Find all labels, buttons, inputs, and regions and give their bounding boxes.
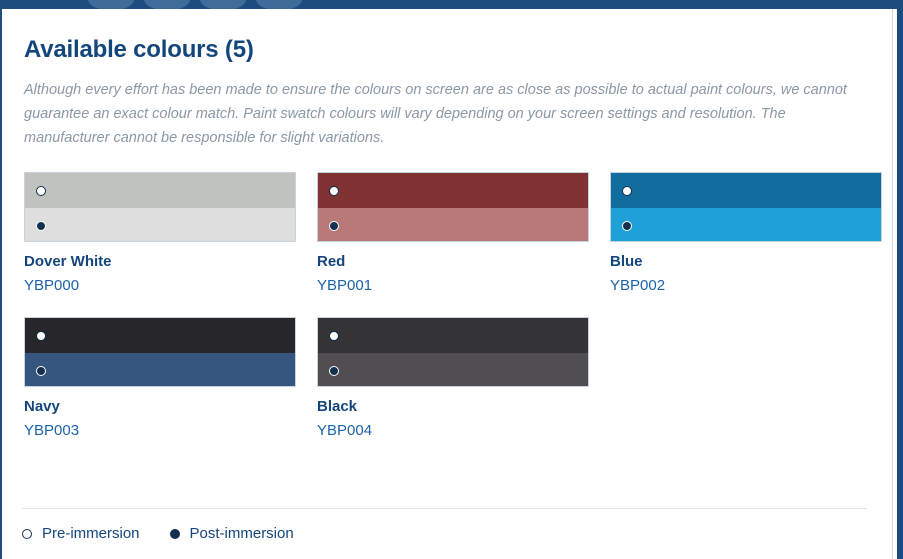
site-header-band xyxy=(0,0,903,9)
pre-immersion-marker-icon xyxy=(36,331,46,341)
legend-item-post-immersion: Post-immersion xyxy=(170,524,294,544)
available-colours-card: Available colours (5) Although every eff… xyxy=(2,9,892,559)
colour-swatch-item[interactable]: Red YBP001 xyxy=(317,172,589,295)
pre-immersion-marker-icon xyxy=(36,186,46,196)
swatch-pre-immersion xyxy=(25,318,295,353)
pre-immersion-marker-icon xyxy=(329,331,339,341)
colour-swatch-item[interactable]: Blue YBP002 xyxy=(610,172,882,295)
swatch-name: Dover White xyxy=(24,253,296,271)
swatch-colour-block[interactable] xyxy=(24,172,296,242)
swatch-pre-immersion xyxy=(25,173,295,208)
swatch-name: Black xyxy=(317,398,589,416)
swatch-code: YBP000 xyxy=(24,277,296,295)
legend-item-pre-immersion: Pre-immersion xyxy=(22,524,140,544)
swatch-pre-immersion xyxy=(318,173,588,208)
swatch-name: Red xyxy=(317,253,589,271)
swatch-post-immersion xyxy=(318,353,588,387)
colour-swatch-item[interactable]: Black YBP004 xyxy=(317,317,589,440)
colour-swatch-item[interactable]: Dover White YBP000 xyxy=(24,172,296,295)
swatch-pre-immersion xyxy=(318,318,588,353)
swatch-pre-immersion xyxy=(611,173,881,208)
pre-immersion-marker-icon xyxy=(329,186,339,196)
swatch-code: YBP001 xyxy=(317,277,589,295)
swatch-post-immersion xyxy=(25,208,295,242)
post-immersion-marker-icon xyxy=(329,221,339,231)
swatch-post-immersion xyxy=(611,208,881,242)
swatch-post-immersion xyxy=(25,353,295,387)
brand-logo-icon xyxy=(86,0,324,9)
colour-selector-page: Available colours (5) Although every eff… xyxy=(0,0,903,559)
page-title: Available colours (5) xyxy=(24,35,870,65)
swatch-code: YBP004 xyxy=(317,422,589,440)
swatch-name: Navy xyxy=(24,398,296,416)
swatch-post-immersion xyxy=(318,208,588,242)
post-immersion-marker-icon xyxy=(36,221,46,231)
post-immersion-marker-icon xyxy=(622,221,632,231)
post-immersion-marker-icon xyxy=(36,366,46,376)
swatch-colour-block[interactable] xyxy=(317,172,589,242)
legend-label: Pre-immersion xyxy=(42,524,140,544)
colour-swatch-grid: Dover White YBP000 Red YBP001 xyxy=(24,172,870,440)
filled-circle-icon xyxy=(170,529,180,539)
page-right-hairline xyxy=(892,9,893,559)
colour-swatch-item[interactable]: Navy YBP003 xyxy=(24,317,296,440)
hollow-circle-icon xyxy=(22,529,32,539)
swatch-colour-block[interactable] xyxy=(317,317,589,387)
legend-label: Post-immersion xyxy=(190,524,294,544)
immersion-legend: Pre-immersion Post-immersion xyxy=(22,524,294,544)
swatch-code: YBP002 xyxy=(610,277,882,295)
swatch-colour-block[interactable] xyxy=(24,317,296,387)
pre-immersion-marker-icon xyxy=(622,186,632,196)
legend-divider xyxy=(22,508,867,509)
page-right-border xyxy=(897,9,903,559)
swatch-code: YBP003 xyxy=(24,422,296,440)
swatch-name: Blue xyxy=(610,253,882,271)
post-immersion-marker-icon xyxy=(329,366,339,376)
colour-accuracy-disclaimer: Although every effort has been made to e… xyxy=(24,78,869,150)
swatch-colour-block[interactable] xyxy=(610,172,882,242)
